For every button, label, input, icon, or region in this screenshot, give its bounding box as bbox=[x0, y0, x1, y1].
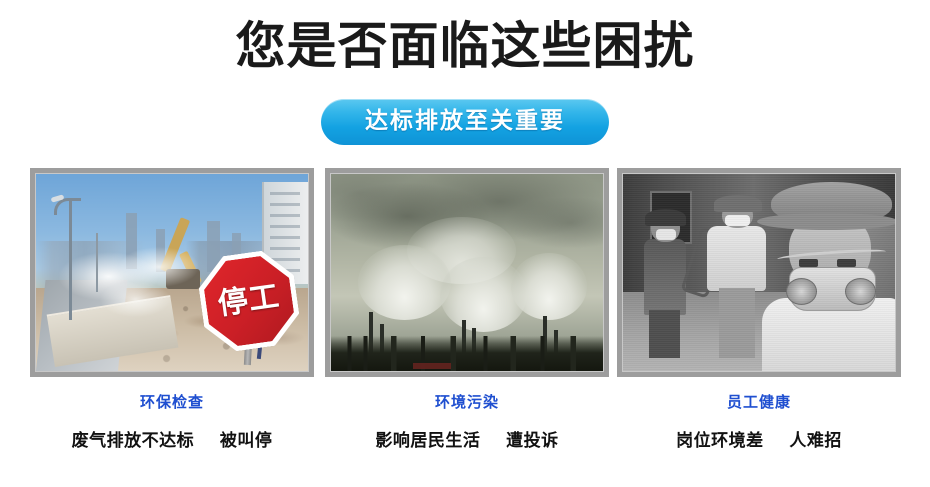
photo-smokestack-pollution bbox=[331, 174, 603, 371]
street-lamp-pole bbox=[69, 198, 72, 320]
worker-hat bbox=[645, 209, 686, 226]
photo-frame: 停工 bbox=[30, 168, 314, 377]
photo-demolition-site: 停工 bbox=[36, 174, 308, 371]
cards-row: 停工 环保检查 废气排放不达标 被叫停 bbox=[0, 168, 930, 468]
card-environmental-inspection: 停工 环保检查 废气排放不达标 被叫停 bbox=[30, 168, 314, 452]
card-employee-health: 员工健康 岗位环境差 人难招 bbox=[617, 168, 901, 452]
smoke-plume bbox=[358, 245, 450, 320]
card-caption: 岗位环境差 人难招 bbox=[617, 430, 901, 452]
photo-frame bbox=[617, 168, 901, 377]
smoke-plume bbox=[511, 253, 587, 320]
worker-body bbox=[644, 239, 686, 316]
card-caption: 废气排放不达标 被叫停 bbox=[30, 430, 314, 452]
card-caption: 影响居民生活 遭投诉 bbox=[325, 430, 609, 452]
hat-brim bbox=[757, 213, 896, 230]
worker-eye bbox=[837, 259, 856, 267]
octagon-sign-border: 停工 bbox=[195, 247, 303, 355]
worker-foreground bbox=[754, 182, 895, 371]
factory-silhouette bbox=[331, 336, 603, 371]
worker-pants bbox=[719, 288, 756, 359]
dust-mask bbox=[656, 229, 677, 240]
card-title: 环保检查 bbox=[30, 392, 314, 412]
factory-roof bbox=[413, 363, 451, 369]
card-title: 环境污染 bbox=[325, 392, 609, 412]
highlight-badge: 达标排放至关重要 bbox=[321, 99, 609, 145]
dust-mask bbox=[725, 215, 750, 226]
photo-workers-respirators bbox=[623, 174, 895, 371]
badge-container: 达标排放至关重要 bbox=[0, 99, 930, 145]
card-environmental-pollution: 环境污染 影响居民生活 遭投诉 bbox=[325, 168, 609, 452]
street-lamp-pole bbox=[96, 233, 98, 292]
card-title: 员工健康 bbox=[617, 392, 901, 412]
page-title: 您是否面临这些困扰 bbox=[0, 16, 930, 76]
photo-frame bbox=[325, 168, 609, 377]
worker-legs bbox=[649, 310, 679, 358]
stop-work-sign: 停工 bbox=[201, 253, 297, 349]
octagon-sign-face: 停工 bbox=[201, 252, 298, 349]
stop-sign-text: 停工 bbox=[216, 281, 282, 321]
